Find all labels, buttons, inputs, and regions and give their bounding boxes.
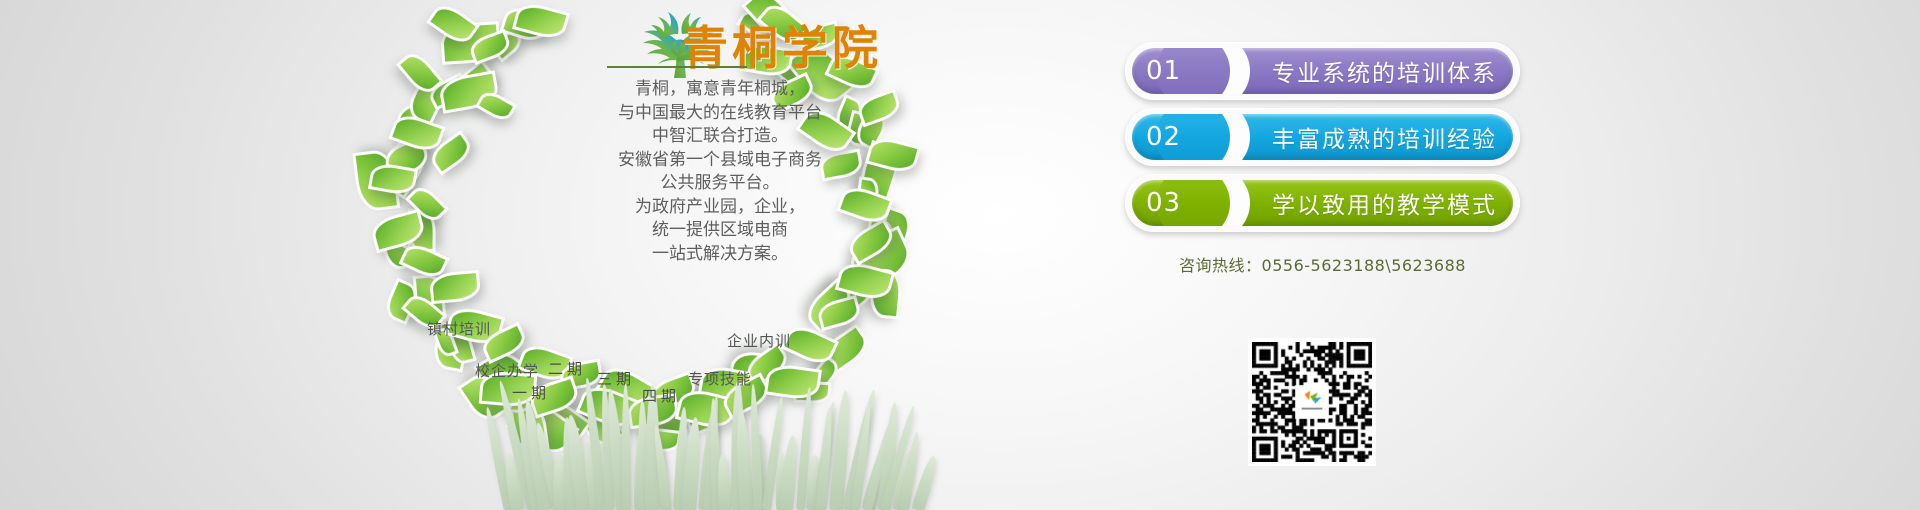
feature-badge[interactable]: 02丰富成熟的培训经验 bbox=[1125, 108, 1520, 166]
description-line: 安徽省第一个县域电子商务 bbox=[560, 149, 880, 173]
program-tag: 三期 bbox=[597, 368, 635, 389]
page-title: 青桐学院 bbox=[682, 12, 882, 78]
qr-code[interactable] bbox=[1248, 338, 1376, 466]
description-line: 公共服务平台。 bbox=[560, 172, 880, 196]
feature-badge-number: 01 bbox=[1146, 48, 1181, 94]
feature-badge[interactable]: 01专业系统的培训体系 bbox=[1125, 42, 1520, 100]
description-line: 统一提供区域电商 bbox=[560, 219, 880, 243]
feature-badge-body: 03学以致用的教学模式 bbox=[1132, 180, 1513, 226]
program-tag: 专项技能 bbox=[688, 368, 752, 389]
description-line: 为政府产业园，企业， bbox=[560, 196, 880, 220]
hotline-text: 咨询热线：0556-5623188\5623688 bbox=[1125, 252, 1520, 276]
feature-badge-list: 01专业系统的培训体系02丰富成熟的培训经验03学以致用的教学模式 bbox=[1125, 42, 1520, 240]
program-tag: 一期 bbox=[512, 382, 550, 403]
feature-badge-label: 学以致用的教学模式 bbox=[1272, 180, 1497, 226]
program-tag: 校企办学 bbox=[475, 360, 539, 381]
feature-badge-body: 02丰富成熟的培训经验 bbox=[1132, 114, 1513, 160]
title-underline bbox=[607, 66, 747, 68]
feature-badge-label: 丰富成熟的培训经验 bbox=[1272, 114, 1497, 160]
program-tag: 二期 bbox=[548, 358, 586, 379]
program-tag: 镇村培训 bbox=[427, 318, 491, 339]
description-line: 一站式解决方案。 bbox=[560, 243, 880, 267]
feature-badge-label: 专业系统的培训体系 bbox=[1272, 48, 1497, 94]
description-line: 与中国最大的在线教育平台 bbox=[560, 102, 880, 126]
feature-badge-number: 03 bbox=[1146, 180, 1181, 226]
description-line: 青桐，寓意青年桐城， bbox=[560, 78, 880, 102]
banner-canvas: 青桐学院 青桐，寓意青年桐城，与中国最大的在线教育平台中智汇联合打造。安徽省第一… bbox=[0, 0, 1920, 510]
feature-badge-number: 02 bbox=[1146, 114, 1181, 160]
feature-badge[interactable]: 03学以致用的教学模式 bbox=[1125, 174, 1520, 232]
feature-badge-body: 01专业系统的培训体系 bbox=[1132, 48, 1513, 94]
program-tag: 四期 bbox=[642, 385, 680, 406]
grass-blade-icon bbox=[716, 454, 732, 510]
qr-code-canvas bbox=[1252, 342, 1372, 462]
description-line: 中智汇联合打造。 bbox=[560, 125, 880, 149]
brand-description: 青桐，寓意青年桐城，与中国最大的在线教育平台中智汇联合打造。安徽省第一个县域电子… bbox=[560, 78, 880, 266]
program-tag: 企业内训 bbox=[727, 330, 791, 351]
